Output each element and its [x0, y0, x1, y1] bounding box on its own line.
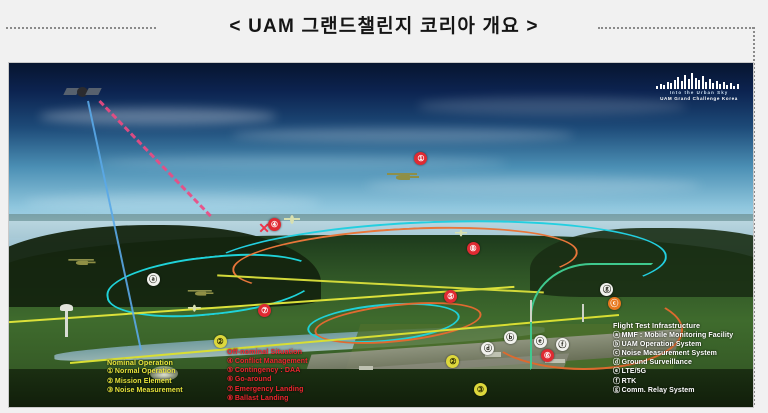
legend-item-symbol: ⓑ: [613, 341, 620, 348]
city-skyline-icon: [656, 69, 742, 89]
legend-item-symbol: ③: [107, 387, 113, 394]
legend-item-symbol: ⑥: [227, 376, 233, 383]
scene-marker: ⓕ: [556, 338, 569, 351]
legend-item-label: Noise Measurement System: [622, 350, 717, 357]
scene-marker: ⑦: [258, 304, 271, 317]
legend-item-symbol: ⓖ: [613, 387, 620, 394]
scene-marker: ⑧: [467, 242, 480, 255]
legend-item-label: Comm. Relay System: [622, 387, 695, 394]
legend-item-label: LTE/5G: [622, 368, 647, 375]
slide-root: < UAM 그랜드챌린지 코리아 개요 >: [0, 0, 768, 413]
antenna-mast: [530, 300, 532, 322]
legend-item: ④Conflict Management: [227, 357, 308, 366]
legend-item: ⓕRTK: [613, 377, 733, 386]
legend-item-symbol: ⓕ: [613, 378, 620, 385]
legend-item: ⑦Emergency Landing: [227, 385, 308, 394]
legend-items: ①Normal Operation②Mission Element③Noise …: [107, 367, 183, 395]
logo-program-name: UAM Grand Challenge Korea: [653, 96, 745, 102]
legend-item: ⓖComm. Relay System: [613, 386, 733, 395]
legend-off-nominal-situation: Off-nominal Situation ④Conflict Manageme…: [227, 347, 308, 403]
legend-item-symbol: ⓒ: [613, 350, 620, 357]
scene-marker: ④: [268, 218, 281, 231]
cloud: [418, 97, 686, 114]
legend-item-label: Noise Measurement: [115, 387, 183, 394]
cloud: [39, 108, 277, 125]
legend-item: ②Mission Element: [107, 377, 183, 386]
legend-item-label: UAM Operation System: [622, 341, 702, 348]
monitoring-tower: [65, 311, 68, 337]
scene-marker: ③: [474, 383, 487, 396]
legend-item: ⓑUAM Operation System: [613, 340, 733, 349]
legend-item-symbol: ①: [107, 368, 113, 375]
title-bar: < UAM 그랜드챌린지 코리아 개요 >: [0, 0, 768, 58]
legend-item: ⑥Go-around: [227, 375, 308, 384]
legend-item: ⑤Contingency : DAA: [227, 366, 308, 375]
legend-item-symbol: ②: [107, 378, 113, 385]
facility-building: [359, 366, 373, 370]
legend-item-label: Ground Surveillance: [622, 359, 692, 366]
legend-items: ⓐMMF : Mobile Monitoring FacilityⓑUAM Op…: [613, 331, 733, 395]
legend-item-label: Ballast Landing: [235, 395, 289, 402]
cloud: [366, 177, 701, 194]
cloud: [24, 194, 322, 211]
scene-marker: ⓒ: [608, 297, 621, 310]
legend-item-symbol: ⓓ: [613, 359, 620, 366]
legend-items: ④Conflict Management⑤Contingency : DAA⑥G…: [227, 357, 308, 403]
scene-marker: ⑥: [541, 349, 554, 362]
legend-item: ⑧Ballast Landing: [227, 394, 308, 403]
legend-item-label: Go-around: [235, 376, 272, 383]
legend-item-label: RTK: [622, 378, 637, 385]
page-title: < UAM 그랜드챌린지 코리아 개요 >: [0, 11, 768, 38]
legend-item-label: Conflict Management: [235, 358, 308, 365]
legend-title: Flight Test Infrastructure: [613, 321, 733, 331]
legend-item-symbol: ⓐ: [613, 332, 620, 339]
legend-title: Nominal Operation: [107, 358, 183, 368]
legend-nominal-operation: Nominal Operation ①Normal Operation②Miss…: [107, 358, 183, 395]
legend-item: ⓔLTE/5G: [613, 367, 733, 376]
legend-item-label: Emergency Landing: [235, 386, 304, 393]
legend-item: ⓓGround Surveillance: [613, 358, 733, 367]
antenna-mast: [582, 304, 584, 322]
legend-item-label: Normal Operation: [115, 368, 176, 375]
legend-item-symbol: ④: [227, 358, 233, 365]
legend-item-symbol: ⑦: [227, 386, 233, 393]
legend-item-label: MMF : Mobile Monitoring Facility: [622, 332, 734, 339]
legend-item-label: Mission Element: [115, 378, 172, 385]
uam-concept-illustration: ✕ ①④⑦⑤⑥②③②ⓐⓑⓓⓔⓕⓖⓒ⑧ Into the Urban Sky UA…: [8, 62, 754, 408]
scene-marker: ⓓ: [481, 342, 494, 355]
legend-item-symbol: ⓔ: [613, 368, 620, 375]
legend-item: ③Noise Measurement: [107, 386, 183, 395]
legend-item: ①Normal Operation: [107, 367, 183, 376]
legend-item-symbol: ⑧: [227, 395, 233, 402]
legend-item-symbol: ⑤: [227, 367, 233, 374]
legend-item: ⓒNoise Measurement System: [613, 349, 733, 358]
legend-item-label: Contingency : DAA: [235, 367, 300, 374]
scene-marker: ②: [214, 335, 227, 348]
legend-item: ⓐMMF : Mobile Monitoring Facility: [613, 331, 733, 340]
satellite-icon: [65, 84, 99, 100]
uam-grand-challenge-logo: Into the Urban Sky UAM Grand Challenge K…: [653, 67, 745, 107]
scene-marker: ⓑ: [504, 331, 517, 344]
legend-flight-test-infrastructure: Flight Test Infrastructure ⓐMMF : Mobile…: [613, 321, 733, 395]
legend-title: Off-nominal Situation: [227, 347, 308, 357]
scene-marker: ⓔ: [534, 335, 547, 348]
scene-marker: ⓐ: [147, 273, 160, 286]
